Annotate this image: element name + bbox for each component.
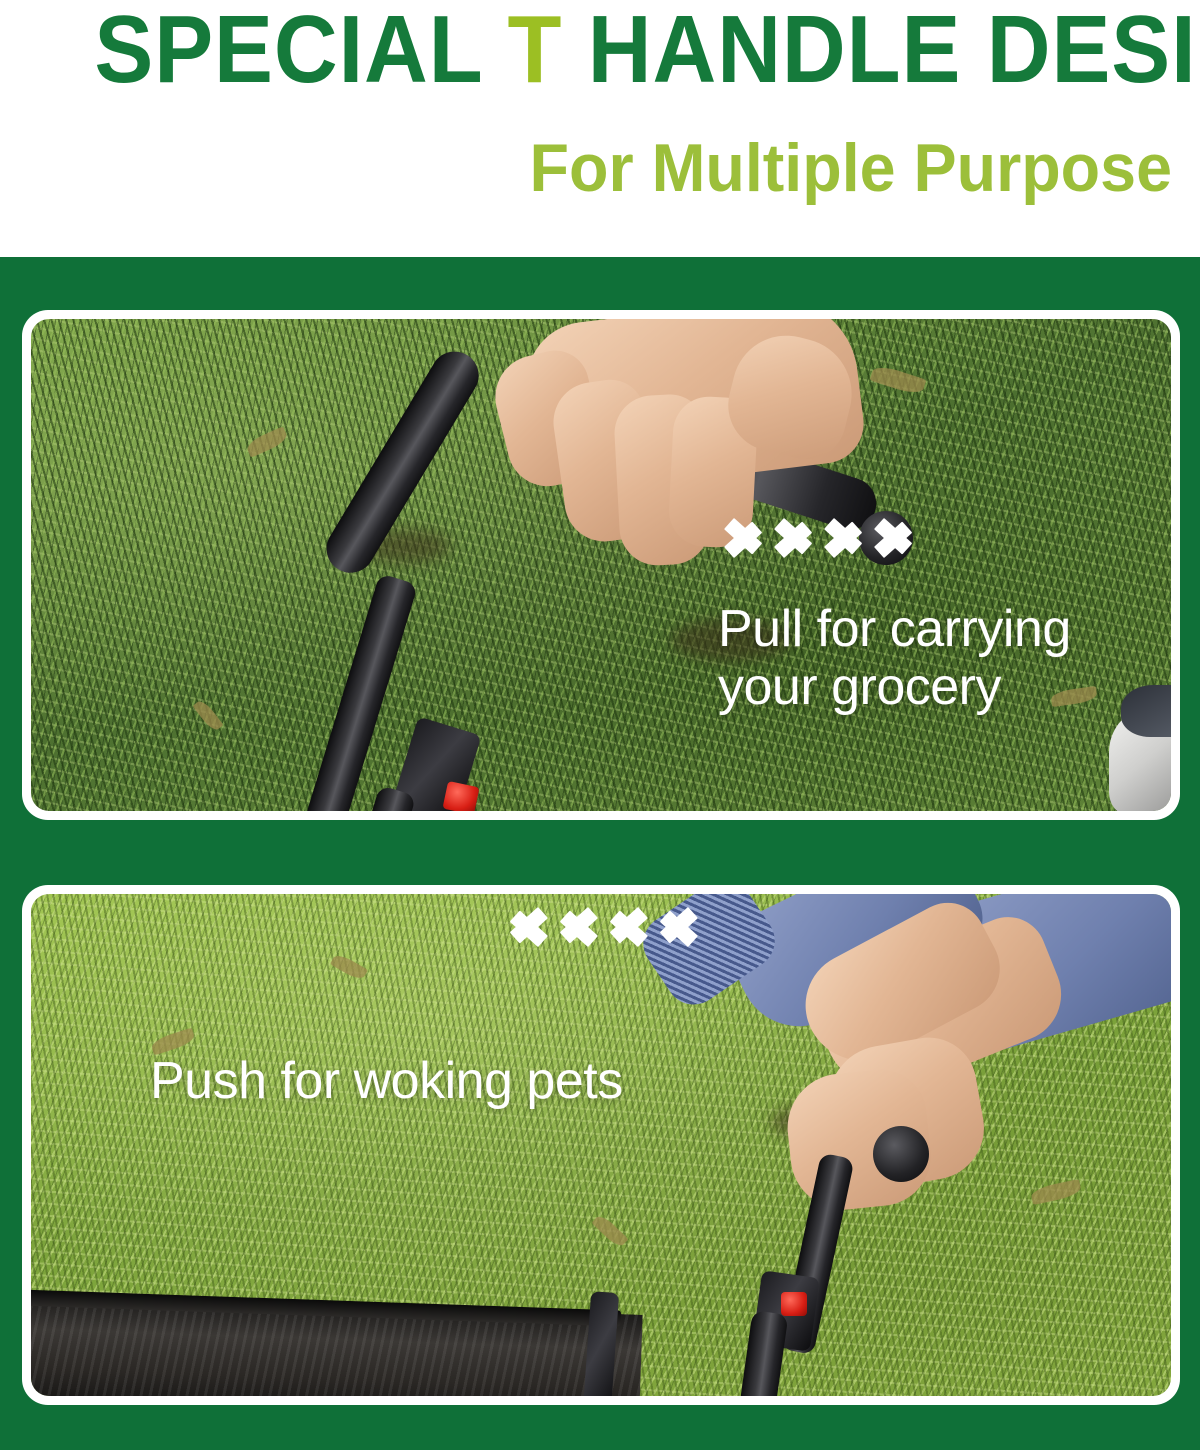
leaf-debris [591, 1213, 628, 1249]
page-title: SPECIAL T HANDLE DESIGN [94, 0, 1180, 100]
leaf-debris [192, 698, 223, 733]
caption-push: Push for woking pets [150, 1052, 710, 1110]
leaf-debris [245, 426, 290, 458]
red-locking-knob [781, 1292, 807, 1316]
chevron-left-icon [649, 894, 695, 964]
red-locking-knob [442, 781, 479, 811]
caption-pull: Pull for carrying your grocery [718, 600, 1158, 716]
leaf-debris [870, 363, 927, 397]
header-band: SPECIAL T HANDLE DESIGN For Multiple Pur… [0, 0, 1200, 257]
chevron-left-icon [599, 894, 645, 964]
title-part-two: HANDLE DESIGN [562, 0, 1200, 103]
handle-end-cap [873, 1126, 929, 1182]
chevron-right-icon [773, 501, 819, 575]
leaf-debris [1030, 1179, 1082, 1205]
grass-background-top [31, 319, 1171, 811]
handle-shaft-lower [738, 1310, 789, 1396]
chevron-left-icon [499, 894, 545, 964]
chevron-right-icon [723, 501, 769, 575]
product-feature-graphic: SPECIAL T HANDLE DESIGN For Multiple Pur… [0, 0, 1200, 1450]
title-accent-letter: T [507, 0, 562, 103]
chevron-right-icon [823, 501, 869, 575]
photo-panel-pull [22, 310, 1180, 820]
chevron-right-icon [873, 501, 919, 575]
page-subtitle: For Multiple Purpose [59, 130, 1172, 206]
photo-panel-push [22, 885, 1180, 1405]
chevron-group-right [723, 501, 919, 575]
grass-background-bottom [31, 894, 1171, 1396]
chevron-group-left [499, 894, 695, 964]
title-part-one: SPECIAL [94, 0, 507, 103]
leaf-debris [330, 952, 368, 982]
chevron-left-icon [549, 894, 595, 964]
